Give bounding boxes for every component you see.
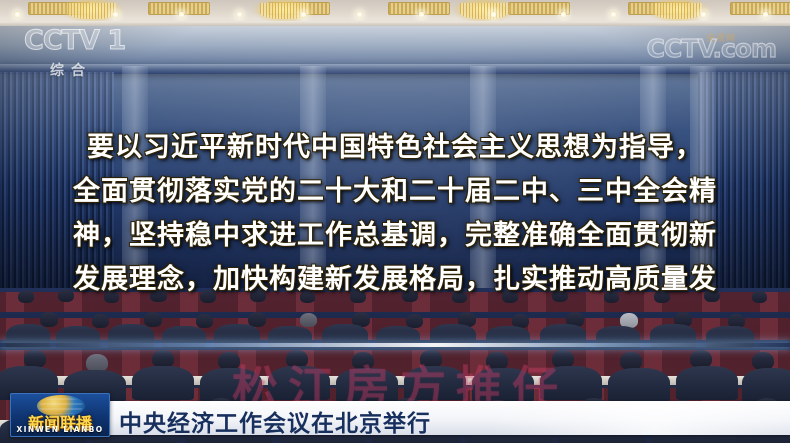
lower-third: 中央经济工作会议在北京举行 新闻联播 XINWEN LIANBO <box>0 391 790 443</box>
site-watermark: 央视网 CCTV.com <box>647 36 776 62</box>
broadcast-frame: 要以习近平新时代中国特色社会主义思想为指导， 全面贯彻落实党的二十大和二十届二中… <box>0 0 790 443</box>
headline-bar: 中央经济工作会议在北京举行 <box>107 401 790 435</box>
channel-logo-cctv1: CCTV 1 综合 <box>24 26 164 84</box>
channel-logo-mark: CCTV 1 <box>24 26 164 56</box>
program-logo-xinwen-lianbo: 新闻联播 XINWEN LIANBO <box>10 393 110 437</box>
lower-third-divider <box>0 343 790 347</box>
subtitle-line-4: 发展理念，加快构建新发展格局，扎实推动高质量发 <box>0 258 790 302</box>
site-watermark-cn: 央视网 <box>706 31 736 44</box>
subtitle-line-1: 要以习近平新时代中国特色社会主义思想为指导， <box>0 126 790 170</box>
subtitle-line-2: 全面贯彻落实党的二十大和二十届二中、三中全会精 <box>0 170 790 214</box>
channel-logo-subtitle: 综合 <box>50 60 164 80</box>
chandelier-icon <box>452 0 516 23</box>
headline-text: 中央经济工作会议在北京举行 <box>119 404 431 438</box>
venue-ceiling <box>0 0 790 26</box>
program-name-en: XINWEN LIANBO <box>11 425 109 434</box>
subtitle-line-3: 神，坚持稳中求进工作总基调，完整准确全面贯彻新 <box>0 214 790 258</box>
subtitle-block: 要以习近平新时代中国特色社会主义思想为指导， 全面贯彻落实党的二十大和二十届二中… <box>0 126 790 302</box>
chandelier-icon <box>252 0 316 23</box>
